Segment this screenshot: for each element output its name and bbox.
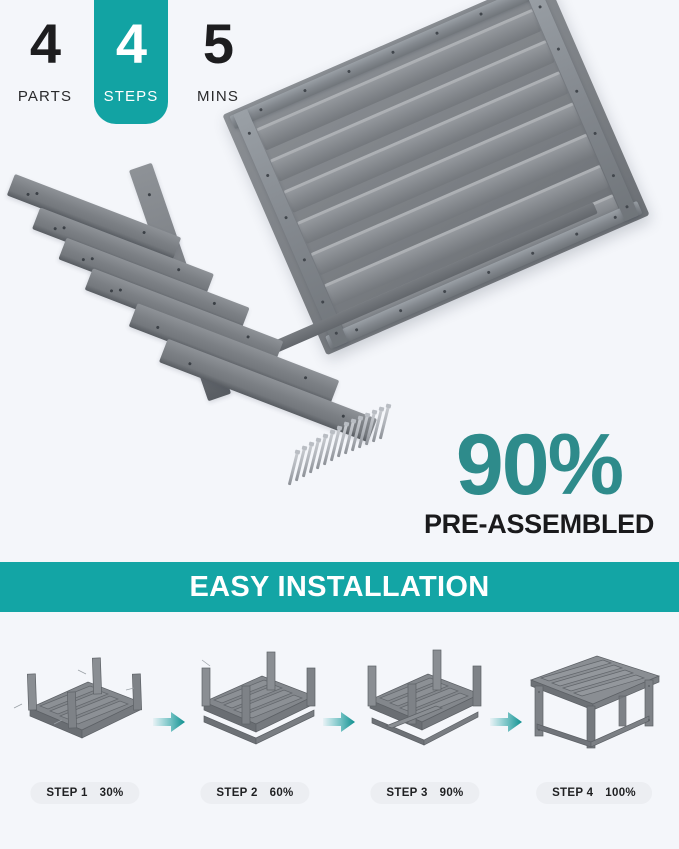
step-1-label: STEP 1 30% <box>30 782 139 804</box>
step-2: STEP 2 60% <box>170 624 340 814</box>
product-infographic: 4 PARTS 4 STEPS 5 MINS 90% PRE-ASSEMBLED… <box>0 0 679 849</box>
step-1-illustration <box>0 630 170 760</box>
stat-parts-number: 4 <box>8 16 82 72</box>
stat-steps-label: STEPS <box>94 88 168 105</box>
stat-mins-label: MINS <box>181 88 255 105</box>
stat-mins-number: 5 <box>181 16 255 72</box>
step-2-name: STEP 2 <box>216 787 257 799</box>
arrow-step-3-to-4-icon <box>490 712 522 732</box>
step-2-label: STEP 2 60% <box>200 782 309 804</box>
arrow-step-2-to-3-icon <box>323 712 355 732</box>
step-1-name: STEP 1 <box>46 787 87 799</box>
pre-assembled-subtitle: PRE-ASSEMBLED <box>408 509 670 540</box>
step-4-name: STEP 4 <box>552 787 593 799</box>
stat-mins: 5 MINS <box>181 0 255 118</box>
pre-assembled-percent: 90% <box>408 424 670 507</box>
stat-steps: 4 STEPS <box>94 0 168 118</box>
banner-title: EASY INSTALLATION <box>190 571 490 604</box>
step-1-percent: 30% <box>100 787 124 799</box>
stat-parts-label: PARTS <box>8 88 82 105</box>
step-2-percent: 60% <box>270 787 294 799</box>
step-3-percent: 90% <box>440 787 464 799</box>
step-4: STEP 4 100% <box>509 624 679 814</box>
pre-assembled-callout: 90% PRE-ASSEMBLED <box>408 424 670 540</box>
arrow-step-1-to-2-icon <box>153 712 185 732</box>
stats-strip: 4 PARTS 4 STEPS 5 MINS <box>0 0 260 140</box>
step-2-illustration <box>170 630 340 760</box>
easy-installation-banner: EASY INSTALLATION <box>0 562 679 612</box>
step-3-label: STEP 3 90% <box>370 782 479 804</box>
installation-steps: STEP 1 30% <box>0 624 679 814</box>
step-3-name: STEP 3 <box>386 787 427 799</box>
step-4-label: STEP 4 100% <box>536 782 652 804</box>
step-4-percent: 100% <box>605 787 636 799</box>
step-3: STEP 3 90% <box>340 624 510 814</box>
stat-parts: 4 PARTS <box>8 0 82 118</box>
step-1: STEP 1 30% <box>0 624 170 814</box>
step-4-illustration <box>509 630 679 760</box>
step-3-illustration <box>340 630 510 760</box>
stat-steps-number: 4 <box>94 16 168 72</box>
tabletop-frame <box>250 14 670 394</box>
